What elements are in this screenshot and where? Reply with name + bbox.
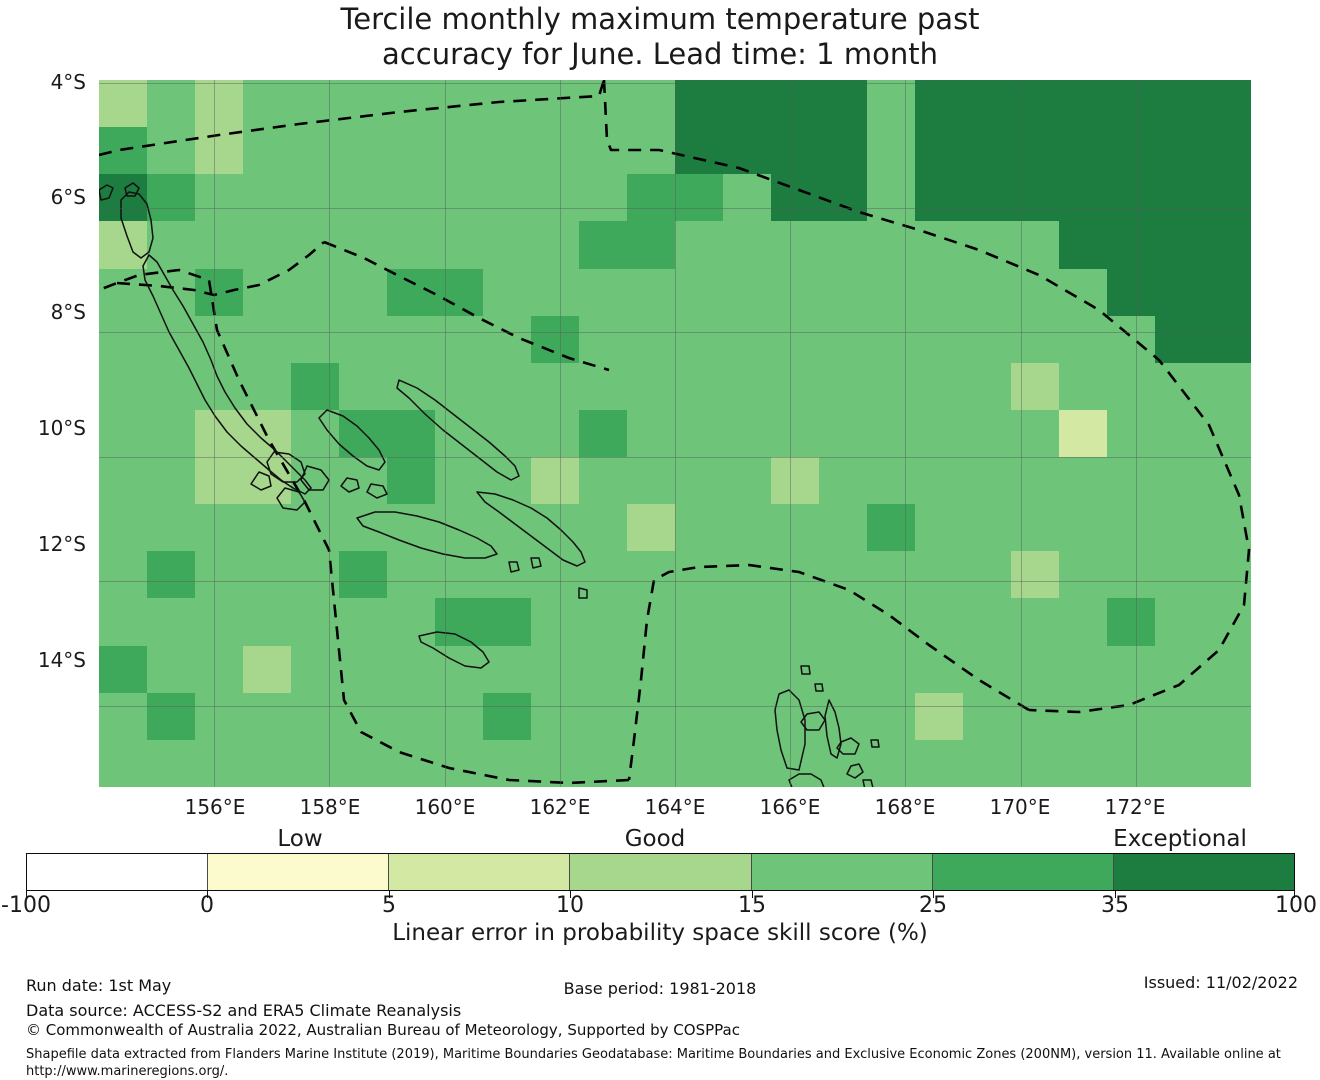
graticule-meridian [214,80,215,787]
colorbar-category-exceptional: Exceptional [1030,826,1320,852]
page-title: Tercile monthly maximum temperature past… [0,2,1320,72]
graticule-parallel [99,208,1251,209]
x-tick-label: 164°E [615,795,735,819]
graticule-parallel [99,706,1251,707]
colorbar-tick-mark [570,891,571,898]
y-tick-label: 12°S [0,532,86,556]
graticule-meridian [1136,80,1137,787]
graticule-meridian [329,80,330,787]
y-tick-label: 14°S [0,648,86,672]
colorbar-tick-mark [933,891,934,898]
graticule-parallel [99,457,1251,458]
colorbar[interactable] [26,853,1295,891]
x-tick-label: 172°E [1075,795,1195,819]
page-title-line-1: Tercile monthly maximum temperature past [0,2,1320,37]
colorbar-tick-mark [26,891,27,898]
colorbar-segment-4 [752,854,933,890]
graticule-parallel [99,581,1251,582]
y-tick-label: 10°S [0,416,86,440]
x-tick-label: 166°E [730,795,850,819]
colorbar-category-low: Low [150,826,450,852]
colorbar-segment-0 [27,854,208,890]
colorbar-tick-mark [1115,891,1116,898]
x-tick-label: 156°E [155,795,275,819]
footer-base-period: Base period: 1981-2018 [0,978,1320,999]
y-tick-label: 8°S [0,300,86,324]
graticule-parallel [99,83,1251,84]
colorbar-tick-mark [1294,891,1295,898]
colorbar-tick-label: 100 [1226,893,1320,918]
footer-data-source: Data source: ACCESS-S2 and ERA5 Climate … [26,1000,461,1021]
graticule-meridian [1021,80,1022,787]
graticule-meridian [675,80,676,787]
footer-shapefile-line-2: http://www.marineregions.org/. [26,1063,1281,1080]
colorbar-tick-mark [389,891,390,898]
x-tick-label: 170°E [960,795,1080,819]
footer-copyright: © Commonwealth of Australia 2022, Austra… [26,1020,740,1041]
footer-shapefile-note: Shapefile data extracted from Flanders M… [26,1046,1281,1080]
graticule-meridian [445,80,446,787]
x-tick-label: 162°E [500,795,620,819]
y-tick-label: 6°S [0,185,86,209]
graticule-meridian [560,80,561,787]
colorbar-segment-5 [933,854,1114,890]
graticule-meridian [790,80,791,787]
colorbar-segment-3 [570,854,751,890]
x-tick-label: 168°E [845,795,965,819]
x-tick-label: 160°E [385,795,505,819]
graticule-meridian [905,80,906,787]
page-title-line-2: accuracy for June. Lead time: 1 month [0,37,1320,72]
x-tick-label: 158°E [270,795,390,819]
colorbar-segment-1 [208,854,389,890]
colorbar-category-good: Good [505,826,805,852]
colorbar-segment-2 [389,854,570,890]
y-tick-label: 4°S [0,70,86,94]
footer-shapefile-line-1: Shapefile data extracted from Flanders M… [26,1046,1281,1063]
colorbar-tick-mark [207,891,208,898]
colorbar-title: Linear error in probability space skill … [0,920,1320,946]
map-plot-area[interactable] [99,80,1251,787]
colorbar-tick-label: -100 [0,893,96,918]
graticule-parallel [99,332,1251,333]
colorbar-tick-mark [752,891,753,898]
colorbar-segment-6 [1114,854,1294,890]
footer-issued-date: Issued: 11/02/2022 [1144,972,1298,993]
